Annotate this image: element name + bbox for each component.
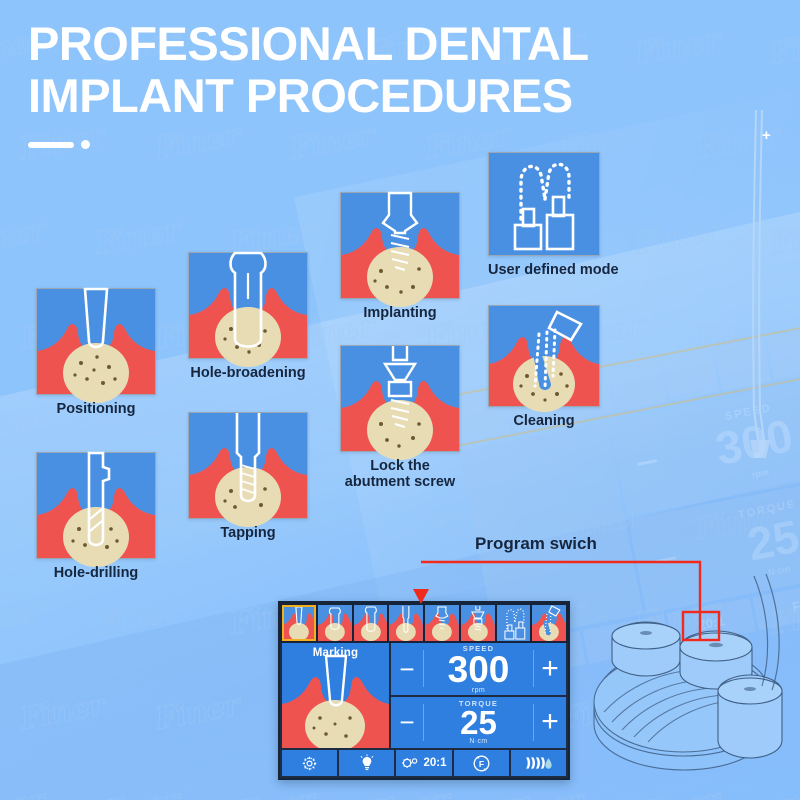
step-label: Hole-broadening [188, 365, 308, 381]
gear-ratio-icon [401, 756, 420, 770]
gear-ratio-button[interactable]: 20:1 [396, 750, 451, 776]
title-line-1: PROFESSIONAL DENTAL [28, 17, 589, 70]
water-waves-icon [524, 755, 552, 771]
wide-drill-icon [188, 252, 308, 359]
page-header: PROFESSIONAL DENTAL IMPLANT PROCEDURES [28, 18, 589, 149]
dotted-crown-icon [488, 152, 600, 256]
tap-tool-icon [188, 412, 308, 519]
lightbulb-icon [359, 754, 375, 772]
watermark-text: Finer [0, 593, 47, 642]
drill-bit-positioning-icon [36, 288, 156, 395]
callout-label: Program swich [475, 534, 597, 554]
step-implanting: Implanting [340, 192, 460, 321]
light-button[interactable] [339, 750, 394, 776]
speed-readout: SPEED 300 rpm [423, 644, 534, 694]
program-thumb-5[interactable] [425, 605, 459, 641]
title-accent-rule [28, 140, 589, 149]
handpiece-cable-decoration [700, 110, 800, 460]
title-line-2: IMPLANT PROCEDURES [28, 69, 573, 122]
speed-plus-button[interactable]: + [534, 654, 566, 684]
watermark-text: Finer [153, 688, 242, 737]
mode-illustration [282, 648, 389, 748]
step-label: Hole-drilling [36, 565, 156, 581]
watermark-text: Finer [18, 688, 107, 737]
abutment-driver-icon [340, 345, 460, 452]
ghost-speed-unit: rpm [751, 467, 770, 480]
gear-icon [301, 755, 318, 772]
step-hole-broadening: Hole-broadening [188, 252, 308, 381]
svg-text:F: F [479, 758, 484, 768]
step-label: Implanting [340, 305, 460, 321]
step-positioning: Positioning [36, 288, 156, 417]
accent-bar [28, 142, 74, 148]
torque-unit: N·cm [423, 738, 534, 745]
accent-dot [81, 140, 90, 149]
speed-row: − SPEED 300 rpm + [391, 643, 566, 695]
watermark-text: Finer [93, 783, 182, 800]
program-thumb-3[interactable] [354, 605, 388, 641]
step-label: Tapping [188, 525, 308, 541]
program-thumb-1[interactable] [282, 605, 316, 641]
program-thumb-4[interactable] [389, 605, 423, 641]
torque-row: − TORQUE 25 N·cm + [391, 697, 566, 749]
implant-screw-icon [340, 192, 460, 299]
speed-minus-button[interactable]: − [391, 656, 423, 682]
speed-unit: rpm [423, 687, 534, 694]
step-tapping: Tapping [188, 412, 308, 541]
settings-button[interactable] [282, 750, 337, 776]
direction-button[interactable]: F [454, 750, 509, 776]
program-thumb-2[interactable] [318, 605, 352, 641]
torque-value: 25 [423, 708, 534, 738]
step-lock-abutment-screw: Lock the abutment screw [340, 345, 460, 490]
torque-divider-right [533, 704, 534, 741]
irrigation-tip-icon [488, 305, 600, 407]
watermark-text: Finer [633, 23, 722, 72]
torque-minus-button[interactable]: − [391, 709, 423, 735]
ghost-speed-minus: − [632, 439, 664, 488]
gear-ratio-text: 20:1 [423, 757, 446, 769]
speed-divider-right [533, 650, 534, 687]
panel-toolbar: 20:1 F [280, 748, 568, 778]
step-user-defined-mode: User defined mode [488, 152, 619, 278]
ghost-torque-minus: − [651, 536, 683, 585]
watermark-text: Finer [0, 213, 47, 262]
watermark-text: Finer [768, 23, 800, 72]
program-thumb-8[interactable] [532, 605, 566, 641]
watermark-text: Finer [363, 783, 452, 800]
ghost-program-thumb [609, 359, 667, 412]
irrigation-button[interactable] [511, 750, 566, 776]
step-label: Positioning [36, 401, 156, 417]
program-thumb-6[interactable] [461, 605, 495, 641]
parameter-column: − SPEED 300 rpm + − TORQUE 25 [391, 643, 566, 748]
foot-pedal-illustration [576, 590, 800, 795]
watermark-text: Finer [0, 783, 47, 800]
torque-plus-button[interactable]: + [534, 707, 566, 737]
plus-decoration: + [762, 127, 771, 144]
watermark-text: Finer [93, 213, 182, 262]
panel-main-area: Marking − SPEED 300 [280, 643, 568, 748]
torque-readout: TORQUE 25 N·cm [423, 699, 534, 745]
watermark-text: Finer [93, 593, 182, 642]
watermark-text: Finer [228, 783, 317, 800]
step-label: Lock the abutment screw [340, 458, 460, 490]
infographic-canvas: FinerFinerFinerFinerFinerFinerFinerFiner… [0, 0, 800, 800]
watermark-text: Finer [498, 783, 587, 800]
speed-value: 300 [423, 653, 534, 687]
step-label: Cleaning [488, 413, 600, 429]
page-title: PROFESSIONAL DENTAL IMPLANT PROCEDURES [28, 18, 589, 122]
twist-drill-icon [36, 452, 156, 559]
program-thumb-7[interactable] [497, 605, 531, 641]
device-control-panel[interactable]: Marking − SPEED 300 [278, 601, 570, 780]
program-strip[interactable] [280, 603, 568, 643]
mode-preview[interactable]: Marking [282, 643, 389, 748]
step-cleaning: Cleaning [488, 305, 600, 429]
forward-f-icon: F [472, 754, 491, 773]
step-label: User defined mode [488, 262, 619, 278]
step-hole-drilling: Hole-drilling [36, 452, 156, 581]
